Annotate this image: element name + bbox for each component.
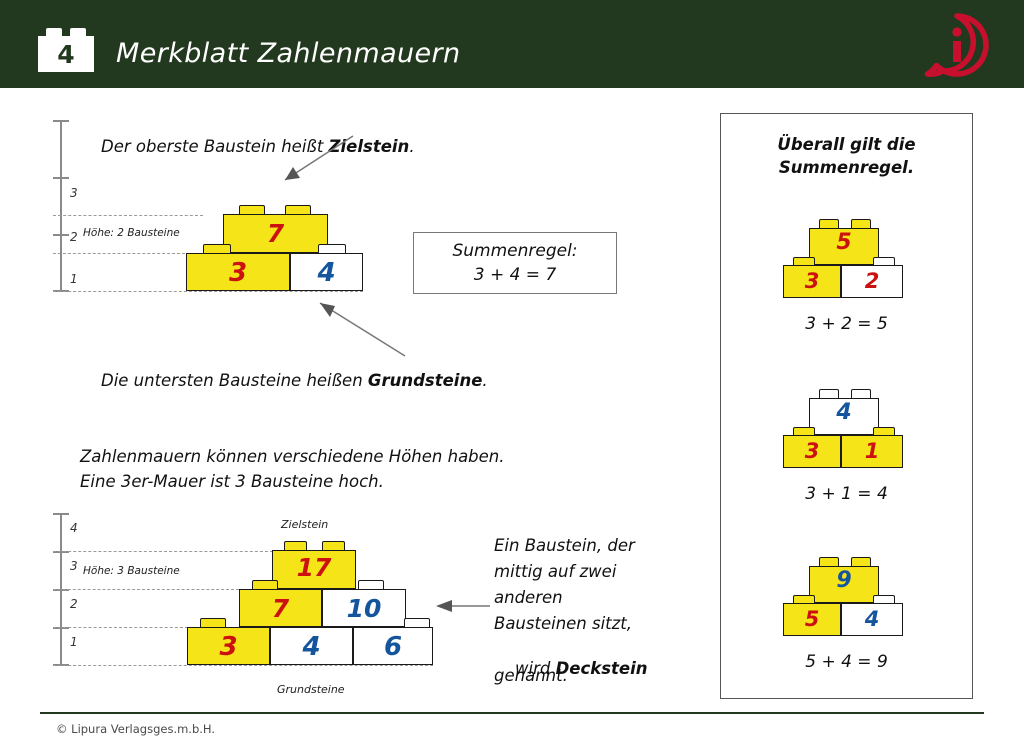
panel-title-line2: Summenregel. (721, 156, 972, 179)
brick-stud (819, 557, 839, 566)
brick-mid-7: 7 (239, 589, 322, 627)
example1-brick-right: 2 (841, 265, 903, 298)
summenregel-panel: Überall gilt die Summenregel. 5 3 2 3 + … (720, 113, 973, 699)
panel-title-line1: Überall gilt die (721, 133, 972, 156)
info-icon[interactable] (920, 8, 994, 82)
example-1: 5 3 2 (721, 219, 972, 309)
ruler-tick (53, 234, 69, 236)
brick-bottom-3: 3 (186, 253, 290, 291)
gridline (53, 665, 433, 666)
ruler-label-2: 2 (70, 230, 78, 244)
brick-value: 9 (809, 568, 879, 593)
brick-value: 3 (783, 269, 841, 293)
brick-value: 4 (809, 400, 879, 425)
header-brick-number: 4 (38, 40, 94, 69)
example2-brick-right: 1 (841, 435, 903, 468)
brick-value: 1 (841, 439, 903, 463)
example1-brick-left: 3 (783, 265, 841, 298)
brick-value: 3 (187, 632, 270, 662)
panel-title: Überall gilt die Summenregel. (721, 133, 972, 179)
page-title: Merkblatt Zahlenmauern (116, 38, 461, 69)
example-3: 9 5 4 (721, 557, 972, 647)
gridline (53, 215, 203, 216)
ruler-tick (53, 120, 69, 122)
text-deckstein-line3: anderen (494, 588, 563, 607)
summenregel-box: Summenregel: 3 + 4 = 7 (413, 232, 617, 294)
brick-stud-partial (252, 580, 278, 589)
ruler-label-3: 3 (70, 559, 78, 573)
gridline (53, 551, 273, 552)
brick-bottom-4: 4 (290, 253, 363, 291)
example2-equation: 3 + 1 = 4 (721, 484, 972, 504)
ruler-label-4: 4 (70, 521, 78, 535)
summenregel-equation: 3 + 4 = 7 (474, 265, 557, 285)
page-header: 4 Merkblatt Zahlenmauern (0, 0, 1024, 88)
brick-value: 4 (270, 632, 353, 662)
example1-brick-top: 5 (809, 219, 879, 265)
brick-value: 10 (322, 594, 406, 623)
summenregel-title: Summenregel: (452, 241, 577, 261)
text-hoehen-line2: Eine 3er-Mauer ist 3 Bausteine hoch. (80, 472, 384, 491)
ruler-label-3: 3 (70, 186, 78, 200)
brick-value: 4 (290, 258, 363, 288)
brick-stud (819, 219, 839, 228)
brick-value: 3 (783, 439, 841, 463)
brick-top-17: 17 (272, 541, 356, 589)
brick-stud (851, 389, 871, 398)
brick-value: 3 (186, 258, 290, 288)
brick-stud (322, 541, 345, 550)
brick-value: 17 (272, 553, 356, 582)
brick-bottom-6: 6 (353, 627, 433, 665)
brick-stud (284, 541, 307, 550)
ruler-tick (53, 513, 69, 515)
brick-stud (851, 219, 871, 228)
example2-brick-top: 4 (809, 389, 879, 435)
example3-brick-left: 5 (783, 603, 841, 636)
example3-brick-top: 9 (809, 557, 879, 603)
text-part: . (409, 137, 414, 156)
gridline (53, 589, 239, 590)
example3-brick-right: 4 (841, 603, 903, 636)
footer-copyright: © Lipura Verlagsges.m.b.H. (56, 722, 215, 736)
brick-stud-partial (404, 618, 430, 627)
brick-value: 2 (841, 269, 903, 293)
arrow-to-zielstein (255, 130, 375, 210)
label-grundsteine: Grundsteine (277, 683, 345, 696)
brick-stud (819, 389, 839, 398)
brick-top-7: 7 (223, 205, 328, 253)
brick-value: 6 (353, 632, 433, 662)
text-hoehen-line1: Zahlenmauern können verschiedene Höhen h… (80, 447, 505, 466)
text-part: . (482, 371, 487, 390)
footer-divider (40, 712, 984, 714)
example1-equation: 3 + 2 = 5 (721, 314, 972, 334)
brick-stud-partial (203, 244, 231, 253)
worksheet-page: 4 Merkblatt Zahlenmauern Der oberste Bau… (0, 0, 1024, 754)
brick-stud-partial (358, 580, 384, 589)
example3-equation: 5 + 4 = 9 (721, 652, 972, 672)
brick-mid-10: 10 (322, 589, 406, 627)
label-zielstein: Zielstein (281, 518, 328, 531)
header-brick-badge: 4 (38, 28, 94, 72)
gridline (53, 253, 185, 254)
ruler-axis (60, 120, 62, 292)
text-part: Die untersten Bausteine heißen (101, 371, 368, 390)
brick-value: 5 (809, 230, 879, 255)
brick-stud-partial (200, 618, 226, 627)
brick-bottom-3: 3 (187, 627, 270, 665)
gridline (53, 627, 188, 628)
text-deckstein-line6: genannt. (494, 666, 568, 685)
example2-brick-left: 3 (783, 435, 841, 468)
ruler-tick (53, 177, 69, 179)
brick-value: 7 (239, 594, 322, 623)
text-grundsteine-sentence: Die untersten Bausteine heißen Grundstei… (80, 352, 488, 409)
ruler-label-1: 1 (70, 635, 78, 649)
example-2: 4 3 1 (721, 389, 972, 479)
text-deckstein-line1: Ein Baustein, der (494, 536, 635, 555)
text-deckstein-line4: Bausteinen sitzt, (494, 614, 632, 633)
height-label-small-wall: Höhe: 2 Bausteine (83, 227, 180, 239)
text-deckstein-line2: mittig auf zwei (494, 562, 616, 581)
text-bold-grundsteine: Grundsteine (368, 371, 482, 390)
brick-bottom-4: 4 (270, 627, 353, 665)
brick-value: 4 (841, 607, 903, 631)
height-label-big-wall: Höhe: 3 Bausteine (83, 565, 180, 577)
brick-value: 5 (783, 607, 841, 631)
ruler-label-1: 1 (70, 272, 78, 286)
brick-stud (851, 557, 871, 566)
arrow-to-deckstein (432, 596, 492, 622)
brick-stud-partial (318, 244, 346, 253)
text-bold-deckstein: Deckstein (556, 659, 648, 678)
ruler-label-2: 2 (70, 597, 78, 611)
brick-value: 7 (223, 219, 328, 248)
